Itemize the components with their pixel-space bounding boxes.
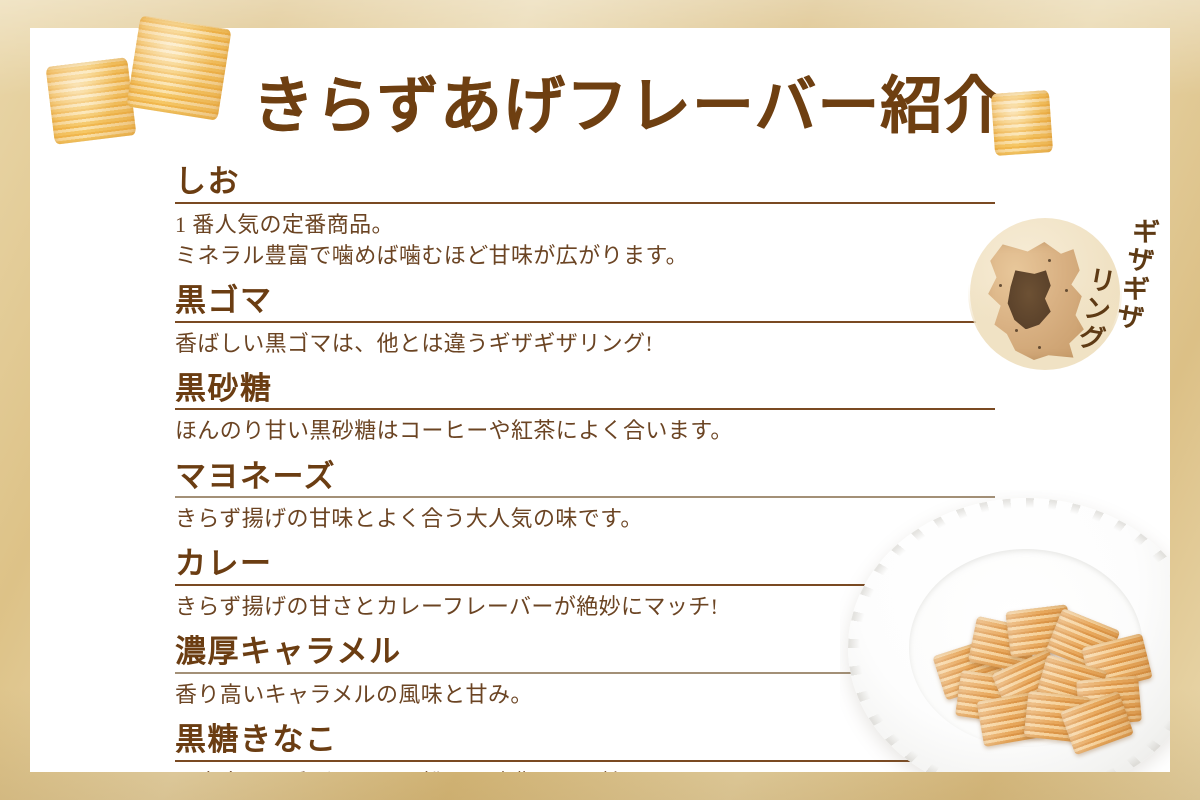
flavor-divider — [175, 321, 995, 323]
flavor-divider — [175, 202, 995, 204]
flavor-divider — [175, 408, 995, 410]
flavor-row: 黒ゴマ 香ばしい黒ゴマは、他とは違うギザギザリング! — [175, 283, 995, 359]
gizagiza-ring-callout: ギザギザ リング — [970, 218, 1120, 416]
flavor-name: しお — [175, 164, 995, 201]
callout-label-line1: ギザギザ — [1111, 214, 1159, 333]
callout-label-line2: リング — [1073, 264, 1116, 355]
snack-pile — [936, 602, 1146, 742]
flavor-description: 香ばしい黒ゴマは、他とは違うギザギザリング! — [175, 328, 995, 359]
flavor-description-line: ほんのり甘い黒砂糖はコーヒーや紅茶によく合います。 — [175, 415, 995, 446]
page-root: きらずあげフレーバー紹介 しお 1 番人気の定番商品。 ミネラル豊富で噛めば噛む… — [0, 0, 1200, 800]
flavor-name: 黒ゴマ — [175, 283, 995, 320]
flavor-name: 黒砂糖 — [175, 371, 995, 408]
flavor-description-line: ミネラル豊富で噛めば噛むほど甘味が広がります。 — [175, 240, 995, 271]
sesame-speck-icon — [1038, 346, 1041, 349]
plate-photo — [840, 490, 1170, 772]
flavor-description: 1 番人気の定番商品。 ミネラル豊富で噛めば噛むほど甘味が広がります。 — [175, 209, 995, 271]
flavor-description-line: 香ばしい黒ゴマは、他とは違うギザギザリング! — [175, 328, 995, 359]
flavor-row: 黒砂糖 ほんのり甘い黒砂糖はコーヒーや紅茶によく合います。 — [175, 371, 995, 447]
content-card: きらずあげフレーバー紹介 しお 1 番人気の定番商品。 ミネラル豊富で噛めば噛む… — [30, 28, 1170, 772]
page-title: きらずあげフレーバー紹介 — [252, 76, 1006, 138]
flavor-description: ほんのり甘い黒砂糖はコーヒーや紅茶によく合います。 — [175, 415, 995, 446]
flavor-row: しお 1 番人気の定番商品。 ミネラル豊富で噛めば噛むほど甘味が広がります。 — [175, 164, 995, 271]
flavor-description-line: 1 番人気の定番商品。 — [175, 209, 995, 240]
